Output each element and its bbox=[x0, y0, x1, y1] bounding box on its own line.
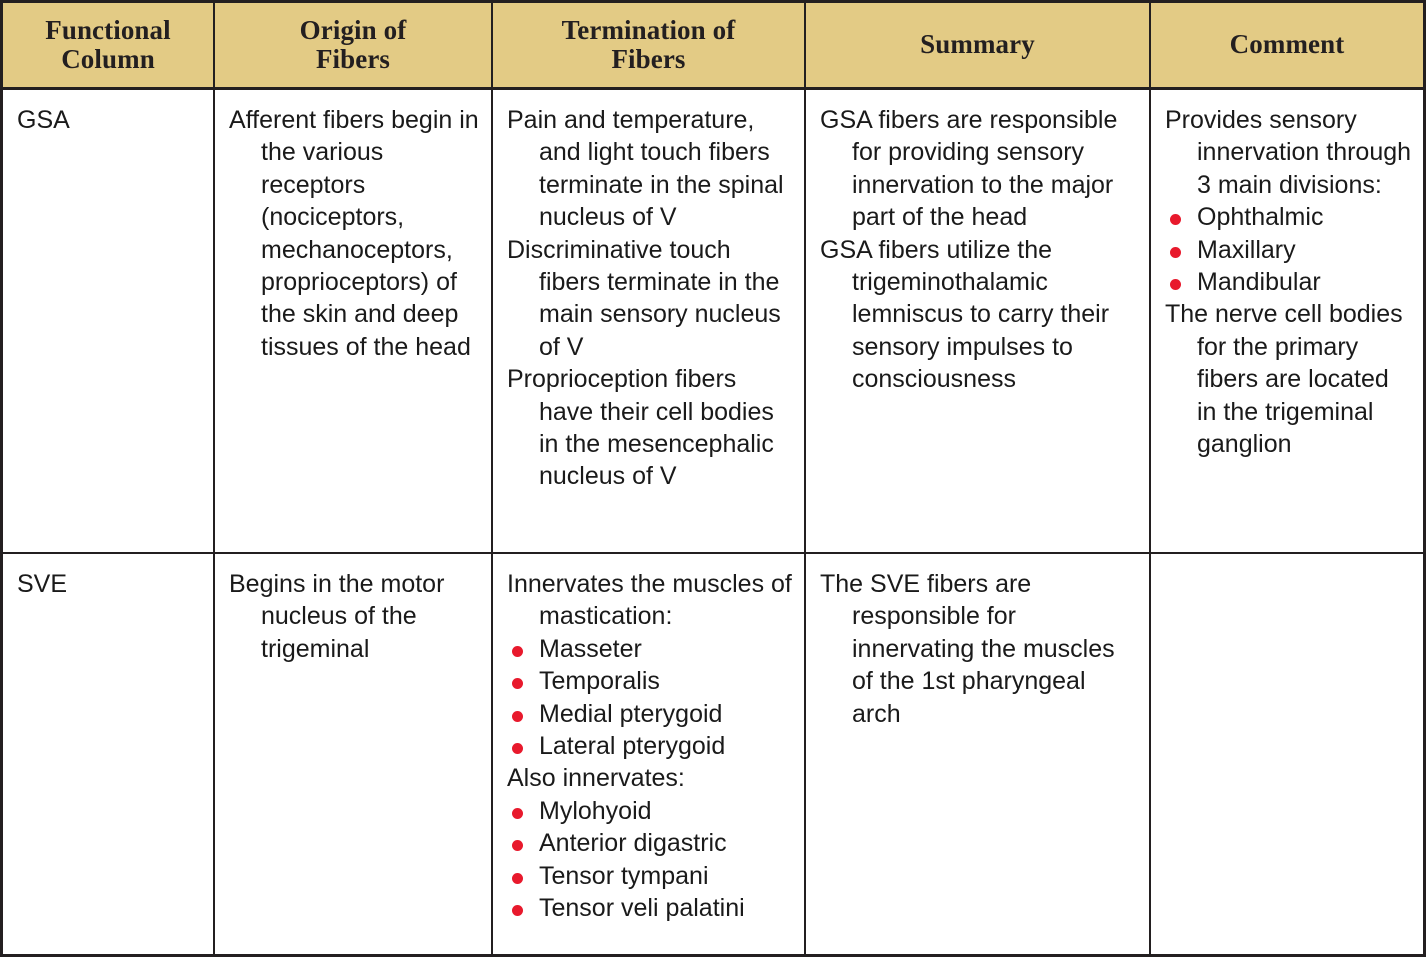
cell-functional-column: GSA bbox=[3, 90, 215, 552]
list-item-label: Temporalis bbox=[539, 667, 660, 695]
bullet-icon bbox=[512, 840, 523, 851]
bullet-icon bbox=[1170, 279, 1181, 290]
summary-paragraph: The SVE fibers are responsible for inner… bbox=[820, 568, 1139, 730]
termination-paragraph: Pain and temperature, and light touch fi… bbox=[507, 104, 794, 234]
list-item: Tensor tympani bbox=[507, 860, 794, 892]
column-header-comment: Comment bbox=[1151, 3, 1423, 87]
bullet-icon bbox=[512, 743, 523, 754]
bullet-icon bbox=[512, 873, 523, 884]
cranial-nerve-table: Functional Column Origin of Fibers Termi… bbox=[0, 0, 1426, 957]
origin-paragraph: Begins in the motor nucleus of the trige… bbox=[229, 568, 481, 665]
cell-termination-of-fibers: Innervates the muscles of mastication: M… bbox=[493, 554, 806, 954]
comment-bullet-list: Ophthalmic Maxillary Mandibular bbox=[1165, 201, 1413, 298]
column-header-functional-column: Functional Column bbox=[3, 3, 215, 87]
list-item-label: Mandibular bbox=[1197, 268, 1321, 296]
cell-summary: GSA fibers are responsible for providing… bbox=[806, 90, 1151, 552]
list-item: Tensor veli palatini bbox=[507, 892, 794, 924]
list-item: Medial pterygoid bbox=[507, 698, 794, 730]
table-row: GSA Afferent fibers begin in the various… bbox=[3, 90, 1423, 554]
table-row: SVE Begins in the motor nucleus of the t… bbox=[3, 554, 1423, 954]
header-line-1: Termination of bbox=[562, 16, 736, 45]
comment-paragraph: Provides sensory innervation through 3 m… bbox=[1165, 104, 1413, 201]
list-item-label: Ophthalmic bbox=[1197, 203, 1323, 231]
cell-comment: Provides sensory innervation through 3 m… bbox=[1151, 90, 1423, 552]
bullet-icon bbox=[1170, 214, 1181, 225]
bullet-icon bbox=[512, 678, 523, 689]
column-header-summary: Summary bbox=[806, 3, 1151, 87]
termination-paragraph: Innervates the muscles of mastication: bbox=[507, 568, 794, 633]
bullet-icon bbox=[512, 808, 523, 819]
cell-origin-of-fibers: Afferent fibers begin in the various rec… bbox=[215, 90, 493, 552]
list-item: Temporalis bbox=[507, 665, 794, 697]
list-item: Ophthalmic bbox=[1165, 201, 1413, 233]
header-line-1: Functional bbox=[45, 16, 171, 45]
column-header-termination-of-fibers: Termination of Fibers bbox=[493, 3, 806, 87]
list-item-label: Maxillary bbox=[1197, 236, 1296, 264]
list-item-label: Anterior digastric bbox=[539, 829, 727, 857]
list-item-label: Medial pterygoid bbox=[539, 700, 722, 728]
cell-origin-of-fibers: Begins in the motor nucleus of the trige… bbox=[215, 554, 493, 954]
list-item: Mylohyoid bbox=[507, 795, 794, 827]
bullet-icon bbox=[512, 646, 523, 657]
termination-bullet-list: Masseter Temporalis Medial pterygoid Lat… bbox=[507, 633, 794, 763]
comment-paragraph: The nerve cell bodies for the primary fi… bbox=[1165, 298, 1413, 460]
table-header-row: Functional Column Origin of Fibers Termi… bbox=[3, 3, 1423, 90]
summary-paragraph: GSA fibers utilize the trigeminothalamic… bbox=[820, 234, 1139, 396]
termination-paragraph: Discriminative touch fibers terminate in… bbox=[507, 234, 794, 364]
list-item-label: Mylohyoid bbox=[539, 797, 652, 825]
bullet-icon bbox=[512, 711, 523, 722]
origin-paragraph: Afferent fibers begin in the various rec… bbox=[229, 104, 481, 363]
functional-column-label: SVE bbox=[17, 568, 203, 600]
header-line-2: Column bbox=[45, 45, 171, 74]
list-item-label: Lateral pterygoid bbox=[539, 732, 725, 760]
list-item: Maxillary bbox=[1165, 234, 1413, 266]
header-line-2: Fibers bbox=[562, 45, 736, 74]
list-item: Lateral pterygoid bbox=[507, 730, 794, 762]
summary-paragraph: GSA fibers are responsible for providing… bbox=[820, 104, 1139, 234]
list-item-label: Tensor tympani bbox=[539, 862, 709, 890]
header-line-1: Origin of bbox=[300, 16, 407, 45]
termination-bullet-list: Mylohyoid Anterior digastric Tensor tymp… bbox=[507, 795, 794, 925]
header-line-1: Summary bbox=[920, 30, 1035, 59]
table-body: GSA Afferent fibers begin in the various… bbox=[3, 90, 1423, 954]
functional-column-label: GSA bbox=[17, 104, 203, 136]
header-line-2: Fibers bbox=[300, 45, 407, 74]
bullet-icon bbox=[512, 905, 523, 916]
cell-comment bbox=[1151, 554, 1423, 954]
termination-paragraph: Proprioception fibers have their cell bo… bbox=[507, 363, 794, 493]
list-item: Mandibular bbox=[1165, 266, 1413, 298]
termination-paragraph: Also innervates: bbox=[507, 762, 794, 794]
column-header-origin-of-fibers: Origin of Fibers bbox=[215, 3, 493, 87]
list-item: Anterior digastric bbox=[507, 827, 794, 859]
cell-termination-of-fibers: Pain and temperature, and light touch fi… bbox=[493, 90, 806, 552]
list-item-label: Tensor veli palatini bbox=[539, 894, 745, 922]
bullet-icon bbox=[1170, 247, 1181, 258]
list-item: Masseter bbox=[507, 633, 794, 665]
header-line-1: Comment bbox=[1230, 30, 1345, 59]
list-item-label: Masseter bbox=[539, 635, 642, 663]
cell-summary: The SVE fibers are responsible for inner… bbox=[806, 554, 1151, 954]
cell-functional-column: SVE bbox=[3, 554, 215, 954]
